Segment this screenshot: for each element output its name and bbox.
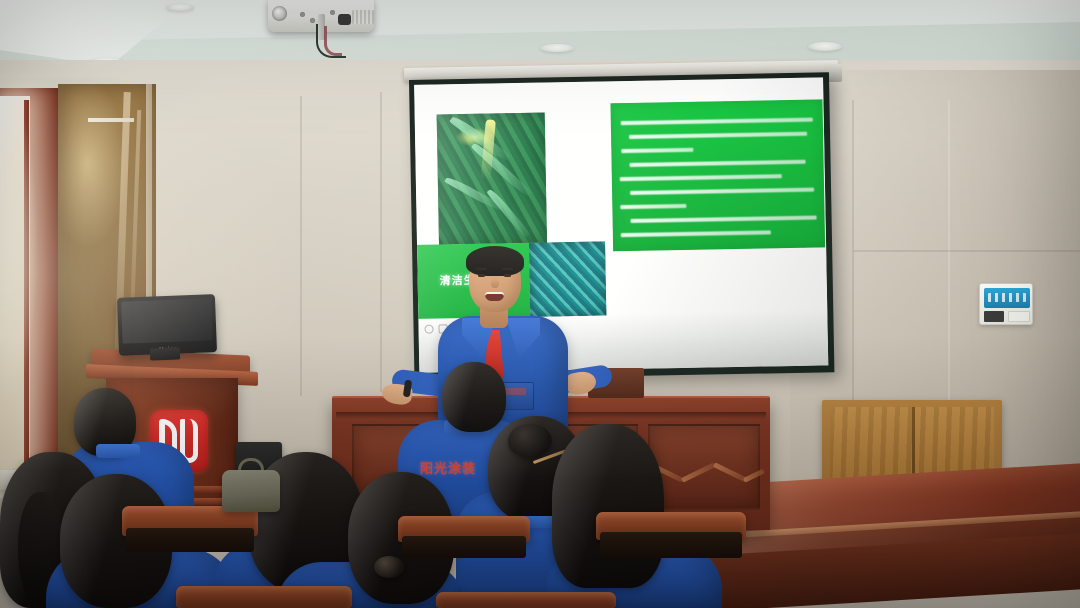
monitor-screen	[121, 298, 213, 343]
seat-back[interactable]	[176, 586, 352, 608]
seat-shadow	[600, 532, 742, 558]
monitor-stand	[150, 347, 180, 360]
handbag	[222, 470, 280, 512]
attendee-head	[442, 362, 506, 432]
wall-seam	[854, 250, 1080, 252]
slide-photo-leaves	[529, 241, 606, 316]
downlight-icon	[166, 4, 194, 11]
hair-tie	[374, 556, 404, 578]
attendee-head	[552, 424, 664, 588]
projector-cable-red	[324, 26, 342, 56]
slide-bullet-box	[610, 99, 825, 251]
pointer-icon[interactable]	[424, 325, 433, 334]
wall-seam	[380, 92, 382, 392]
projector-knob	[300, 12, 305, 17]
slide-photo-bamboo	[437, 113, 547, 245]
presenter-mouth	[485, 292, 504, 301]
thermostat-display	[984, 288, 1030, 308]
ac-thermostat-panel[interactable]	[979, 283, 1033, 325]
presenter-eye	[504, 274, 511, 277]
downlight-icon	[540, 44, 574, 52]
wall-seam	[300, 96, 302, 396]
attendee-collar	[96, 444, 140, 458]
presenter-eyebrow	[502, 268, 513, 270]
projector-vent	[352, 10, 374, 24]
marble-trim	[88, 118, 134, 122]
seat-shadow	[402, 536, 526, 558]
seat-shadow	[126, 528, 254, 552]
projector-knob	[330, 10, 335, 15]
projector-lens-icon	[272, 6, 287, 21]
thermostat-sensor	[984, 311, 1004, 322]
projector-knob	[310, 18, 315, 23]
presenter-eye	[478, 274, 485, 277]
training-room-photo: 清洁生产措施	[0, 0, 1080, 608]
window-mullion	[24, 100, 29, 472]
presenter-hair	[466, 246, 524, 276]
desktop-monitor: Haier	[117, 294, 217, 356]
presenter-eyebrow	[476, 268, 487, 270]
uniform-print-text: 阳光涂装	[420, 458, 476, 477]
seat-back[interactable]	[436, 592, 616, 608]
downlight-icon	[808, 42, 842, 51]
hair-bun	[508, 424, 552, 458]
presenter-nose	[491, 278, 499, 288]
thermostat-label-plate	[1008, 311, 1030, 322]
